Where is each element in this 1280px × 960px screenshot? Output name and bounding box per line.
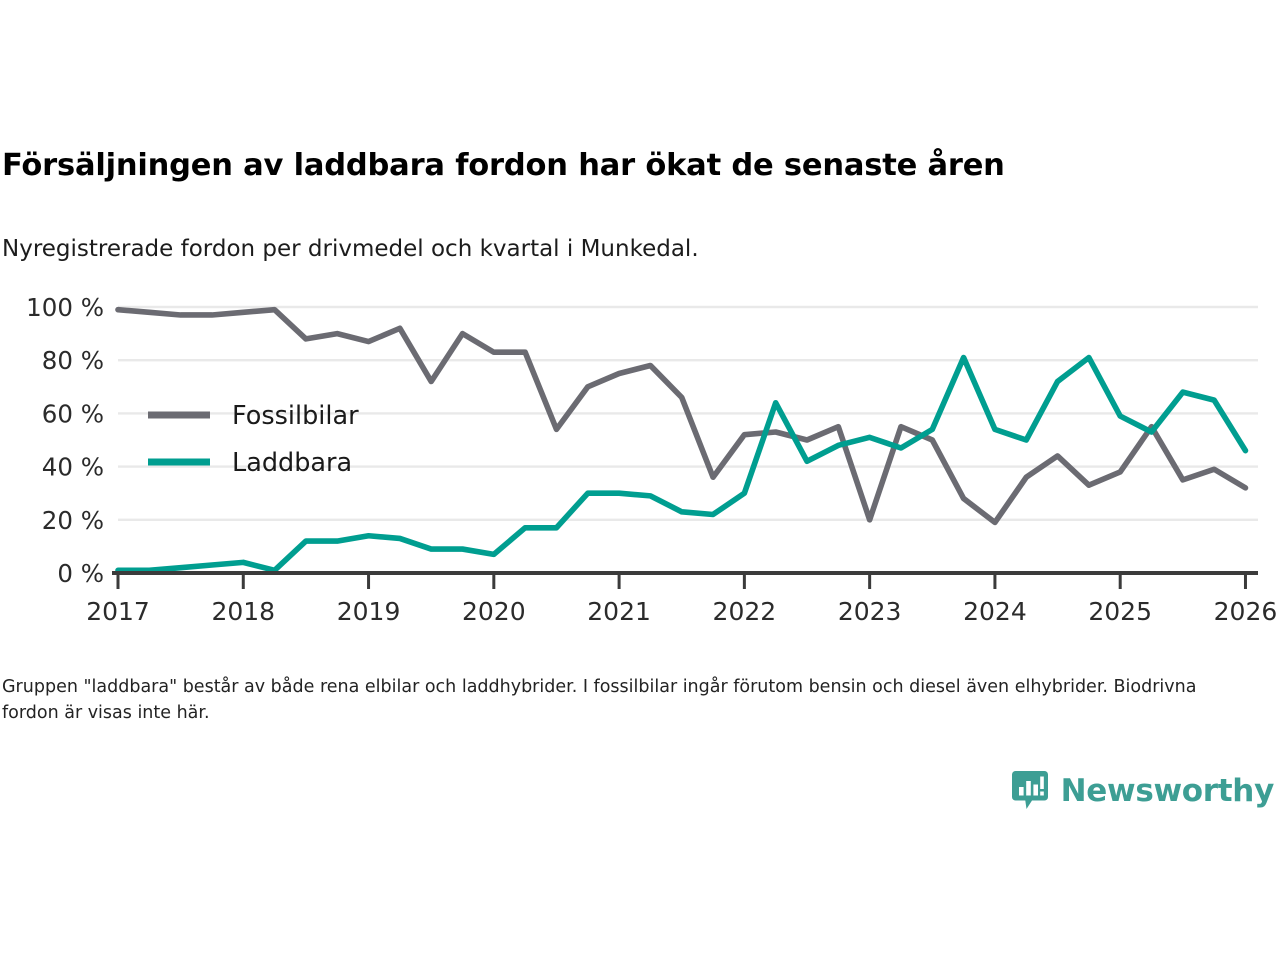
data-series-group (118, 310, 1245, 571)
y-tick-label: 100 % (26, 293, 104, 322)
newsworthy-bar-chart-icon (1009, 770, 1051, 812)
x-tick-label: 2017 (86, 597, 150, 625)
newsworthy-wordmark: Newsworthy (1061, 773, 1274, 809)
x-tick-label: 2024 (963, 597, 1027, 625)
chart-svg: 0 %20 %40 %60 %80 %100 % 201720182019202… (0, 285, 1280, 625)
x-tick-label: 2020 (462, 597, 526, 625)
x-axis (112, 573, 1258, 589)
chart-page: Försäljningen av laddbara fordon har öka… (0, 0, 1280, 960)
x-tick-label: 2025 (1088, 597, 1152, 625)
legend-label: Fossilbilar (232, 401, 359, 431)
x-tick-label: 2018 (211, 597, 275, 625)
x-tick-label: 2026 (1214, 597, 1278, 625)
line-chart: 0 %20 %40 %60 %80 %100 % 201720182019202… (0, 285, 1280, 625)
legend-label: Laddbara (232, 448, 352, 478)
x-tick-label: 2021 (587, 597, 651, 625)
y-tick-label: 0 % (57, 559, 104, 588)
y-tick-label: 40 % (42, 453, 104, 482)
y-tick-label: 20 % (42, 506, 104, 535)
chart-footnote: Gruppen "laddbara" består av både rena e… (2, 674, 1227, 726)
y-tick-label: 80 % (42, 346, 104, 375)
x-tick-label: 2023 (838, 597, 902, 625)
newsworthy-logo[interactable]: Newsworthy (1009, 770, 1274, 812)
y-tick-label: 60 % (42, 399, 104, 428)
y-axis-tick-labels: 0 %20 %40 %60 %80 %100 % (26, 293, 104, 588)
x-tick-label: 2022 (713, 597, 777, 625)
x-axis-tick-labels: 2017201820192020202120222023202420252026 (86, 597, 1277, 625)
page-title: Försäljningen av laddbara fordon har öka… (2, 148, 1005, 183)
x-tick-label: 2019 (337, 597, 401, 625)
page-subtitle: Nyregistrerade fordon per drivmedel och … (2, 236, 699, 262)
